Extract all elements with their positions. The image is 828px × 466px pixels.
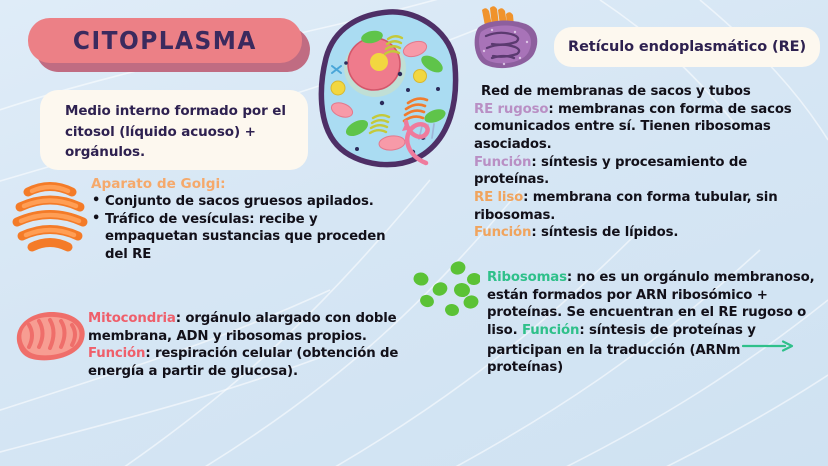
ribosomes-label: Ribosomas bbox=[487, 270, 567, 285]
er-smooth-label: RE liso bbox=[474, 190, 523, 205]
er-rough-function-paragraph: Función: síntesis y procesamiento de pro… bbox=[474, 154, 826, 189]
ribosomes-text-block: Ribosomas: no es un orgánulo membranoso,… bbox=[487, 269, 827, 377]
er-rough-function-label: Función bbox=[474, 155, 531, 170]
golgi-heading: Aparato de Golgi: bbox=[91, 176, 391, 192]
cytoplasm-definition-card: Medio interno formado por el citosol (lí… bbox=[40, 90, 308, 170]
page-title: CITOPLASMA bbox=[73, 26, 257, 55]
er-smooth-function-text: : síntesis de lípidos. bbox=[531, 225, 678, 240]
er-rough-paragraph: RE rugoso: membranas con forma de sacos … bbox=[474, 101, 826, 154]
er-intro-text: Red de membranas de sacos y tubos bbox=[474, 83, 826, 101]
golgi-bullet-list: Conjunto de sacos gruesos apilados. Tráf… bbox=[91, 193, 391, 264]
er-title-label: Retículo endoplasmático (RE) bbox=[568, 39, 806, 55]
mitochondria-label: Mitocondria bbox=[88, 311, 176, 326]
er-smooth-function-label: Función bbox=[474, 225, 531, 240]
mitochondria-text-block: Mitocondria: orgánulo alargado con doble… bbox=[88, 310, 408, 381]
ribosomes-function-text-after: proteínas) bbox=[487, 360, 563, 375]
er-text-block: Red de membranas de sacos y tubos RE rug… bbox=[474, 83, 826, 242]
golgi-bullet-1: Conjunto de sacos gruesos apilados. bbox=[91, 193, 391, 211]
animal-cell-diagram bbox=[316, 6, 466, 171]
cytoplasm-definition-text: Medio interno formado por el citosol (lí… bbox=[65, 101, 308, 163]
ribosome-cluster-icon bbox=[404, 259, 480, 321]
er-title-pill: Retículo endoplasmático (RE) bbox=[554, 27, 820, 67]
page-title-banner: CITOPLASMA bbox=[28, 18, 310, 72]
right-arrow-icon bbox=[742, 340, 794, 352]
golgi-apparatus-icon bbox=[6, 176, 94, 254]
golgi-bullet-2: Tráfico de vesículas: recibe y empaqueta… bbox=[91, 211, 391, 264]
ribosomes-function-label: Función bbox=[522, 323, 579, 338]
er-smooth-paragraph: RE liso: membrana con forma tubular, sin… bbox=[474, 189, 826, 224]
title-banner-plate: CITOPLASMA bbox=[28, 18, 302, 63]
golgi-text-block: Aparato de Golgi: Conjunto de sacos grue… bbox=[91, 176, 391, 264]
mitochondrion-icon bbox=[8, 307, 90, 365]
er-rough-label: RE rugoso bbox=[474, 102, 548, 117]
er-smooth-function-paragraph: Función: síntesis de lípidos. bbox=[474, 224, 826, 242]
endoplasmic-reticulum-icon bbox=[468, 6, 546, 78]
mitochondria-function-label: Función bbox=[88, 346, 145, 361]
